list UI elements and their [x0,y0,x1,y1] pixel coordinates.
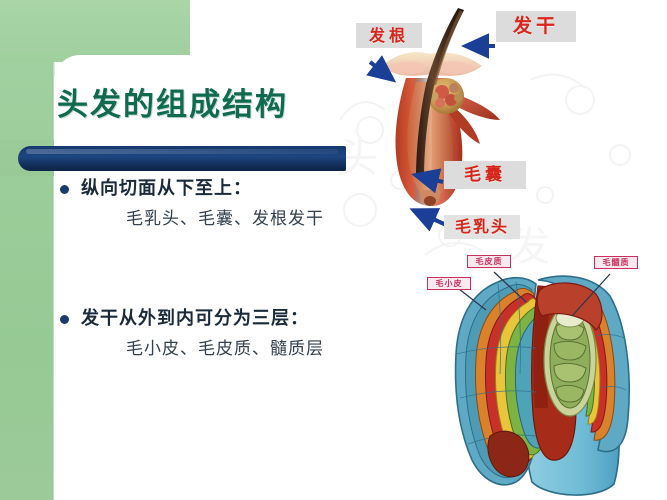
bullet-item-2: 发干从外到内可分为三层： 毛小皮、毛皮质、髓质层 [60,306,380,362]
bullet-dot-icon [60,315,69,324]
top-left-green-block [0,0,190,62]
label-hair-papilla: 毛乳头 [444,215,520,239]
bullet-2-main: 发干从外到内可分为三层： [81,306,309,332]
bullet-2-sub: 毛小皮、毛皮质、髓质层 [126,337,380,362]
bullet-1-main: 纵向切面从下至上： [81,176,252,202]
hair-cross-section-illustration [420,268,667,500]
label-hair-follicle: 毛囊 [444,161,526,189]
label-hair-shaft: 发干 [496,11,576,42]
slide-canvas: 头 发 头发的组成结构 纵向切面从下至上： 毛乳头、毛囊、发根发干 发干从外到内… [0,0,667,500]
label-medulla: 毛髓质 [594,256,638,269]
left-green-band [0,0,54,500]
label-cortex: 毛皮质 [467,255,511,268]
page-title: 头发的组成结构 [57,79,357,124]
label-hair-root: 发根 [356,23,422,48]
label-cuticle: 毛小皮 [427,277,471,290]
bullet-1-sub: 毛乳头、毛囊、发根发干 [126,207,380,232]
bullet-list: 纵向切面从下至上： 毛乳头、毛囊、发根发干 发干从外到内可分为三层： 毛小皮、毛… [60,176,380,374]
title-underline-highlight [26,149,338,154]
bullet-item-1: 纵向切面从下至上： 毛乳头、毛囊、发根发干 [60,176,380,232]
bullet-dot-icon [60,185,69,194]
arrow-to-root [370,62,393,80]
arrow-to-follicle [415,175,443,182]
bullet-spacer [60,244,380,306]
